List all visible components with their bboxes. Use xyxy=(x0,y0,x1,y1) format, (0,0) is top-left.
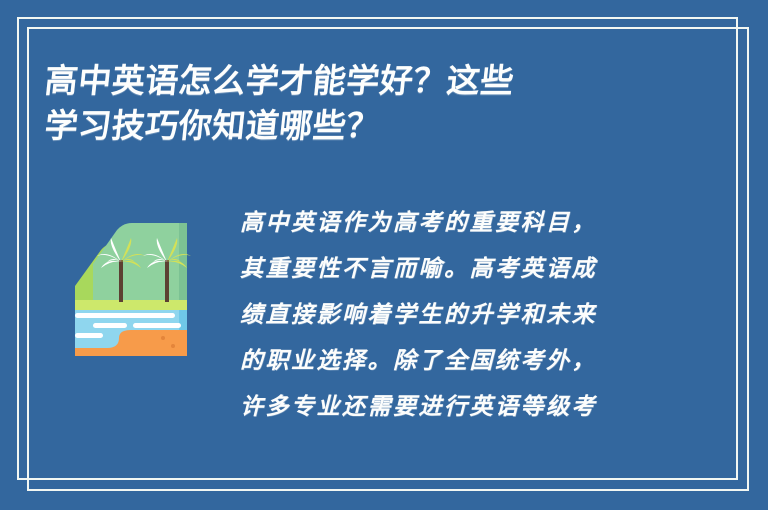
title-line-1: 高中英语怎么学才能学好？这些 xyxy=(43,58,668,103)
content-row: 高中英语作为高考的重要科目， 其重要性不言而喻。高考英语成 绩直接影响着学生的升… xyxy=(45,200,708,430)
article-cover-card: 高中英语怎么学才能学好？这些 学习技巧你知道哪些？ xyxy=(0,0,768,510)
body-line-2: 其重要性不言而喻。高考英语成 xyxy=(240,246,708,292)
article-body-text: 高中英语作为高考的重要科目， 其重要性不言而喻。高考英语成 绩直接影响着学生的升… xyxy=(240,200,708,430)
body-line-5: 许多专业还需要进行英语等级考 xyxy=(240,384,708,430)
body-line-3: 绩直接影响着学生的升学和未来 xyxy=(240,292,708,338)
body-line-4: 的职业选择。除了全国统考外， xyxy=(240,338,708,384)
beach-island-icon xyxy=(75,210,195,360)
beach-island-illustration xyxy=(75,210,195,360)
page-title: 高中英语怎么学才能学好？这些 学习技巧你知道哪些？ xyxy=(45,58,665,148)
body-line-1: 高中英语作为高考的重要科目， xyxy=(240,200,708,246)
title-line-2: 学习技巧你知道哪些？ xyxy=(43,103,668,148)
